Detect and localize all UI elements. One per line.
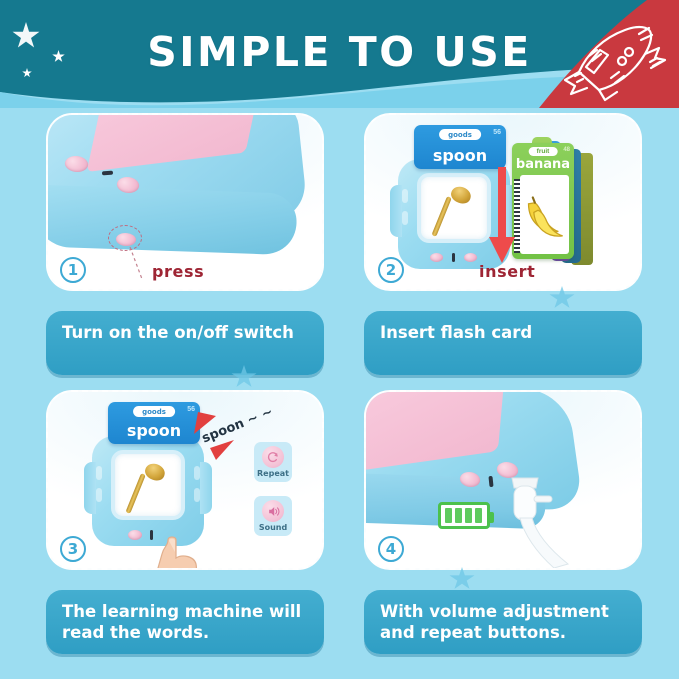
device-rib (96, 466, 102, 480)
step-3-caption: The learning machine will read the words… (46, 590, 324, 654)
flash-card-banana: fruit 48 banana (512, 143, 574, 259)
device-rib (194, 488, 200, 502)
device-screen (111, 450, 185, 520)
device-screen (417, 173, 491, 243)
decor-star-icon (449, 567, 475, 591)
step-4-panel: 4 (364, 390, 642, 570)
annotation-press: press (152, 262, 204, 281)
flash-card-word: banana (512, 157, 574, 172)
annotation-insert: insert (479, 262, 535, 281)
step-1-panel: press 1 (46, 113, 324, 291)
battery-full-icon (438, 502, 490, 529)
step-1-caption: Turn on the on/off switch (46, 311, 324, 375)
speaker-slot (452, 253, 455, 262)
device-rib (96, 488, 102, 502)
volume-button[interactable] (128, 530, 142, 540)
banana-icon (520, 175, 569, 254)
flash-card-image (520, 175, 569, 254)
spoon-bowl-icon (143, 461, 168, 483)
step-4-caption: With volume adjustment and repeat button… (364, 590, 642, 654)
sound-button-label: Sound (259, 523, 287, 532)
usb-cable-icon (506, 472, 642, 570)
leader-line (108, 247, 148, 283)
step-2-caption: Insert flash card (364, 311, 642, 375)
page-header: SIMPLE TO USE (0, 0, 679, 108)
step-badge-1: 1 (60, 257, 86, 283)
step-badge-4: 4 (378, 536, 404, 562)
word-card-index: 56 (493, 129, 501, 136)
word-card-spoon: goods 56 spoon (414, 125, 506, 169)
device-rib (194, 466, 200, 480)
battery-bar (475, 508, 482, 523)
device-rib (402, 211, 408, 225)
sound-button[interactable]: Sound (254, 496, 292, 536)
volume-button[interactable] (116, 177, 140, 193)
word-card-category: goods (439, 129, 481, 140)
step-2-panel: goods 56 spoon fruit 48 banana (364, 113, 642, 291)
device-side-edge (46, 185, 300, 256)
repeat-button-label: Repeat (257, 469, 289, 478)
battery-bar (465, 508, 472, 523)
battery-bar (455, 508, 462, 523)
volume-button[interactable] (430, 253, 443, 262)
power-button[interactable] (464, 253, 477, 262)
step-badge-3: 3 (60, 536, 86, 562)
flash-card-index: 48 (563, 147, 570, 153)
pointing-finger-icon (152, 532, 206, 570)
flash-card-category: fruit (529, 147, 558, 156)
battery-bar (445, 508, 452, 523)
spoon-handle-icon (431, 196, 451, 237)
step-badge-2: 2 (378, 257, 404, 283)
insert-arrow-icon (488, 167, 516, 265)
spoon-handle-icon (125, 473, 145, 514)
word-card-word: spoon (414, 146, 506, 165)
page-title: SIMPLE TO USE (0, 28, 679, 76)
speaker-icon (262, 500, 284, 522)
word-card-category: goods (133, 406, 175, 417)
speaker-slot (102, 171, 113, 176)
repeat-icon (262, 446, 284, 468)
step-3-panel: goods 56 spoon spoon ~ ~ Repeat (46, 390, 324, 570)
power-button[interactable] (64, 156, 89, 172)
device-rib (402, 189, 408, 203)
spoon-bowl-icon (449, 184, 474, 206)
repeat-button[interactable]: Repeat (254, 442, 292, 482)
